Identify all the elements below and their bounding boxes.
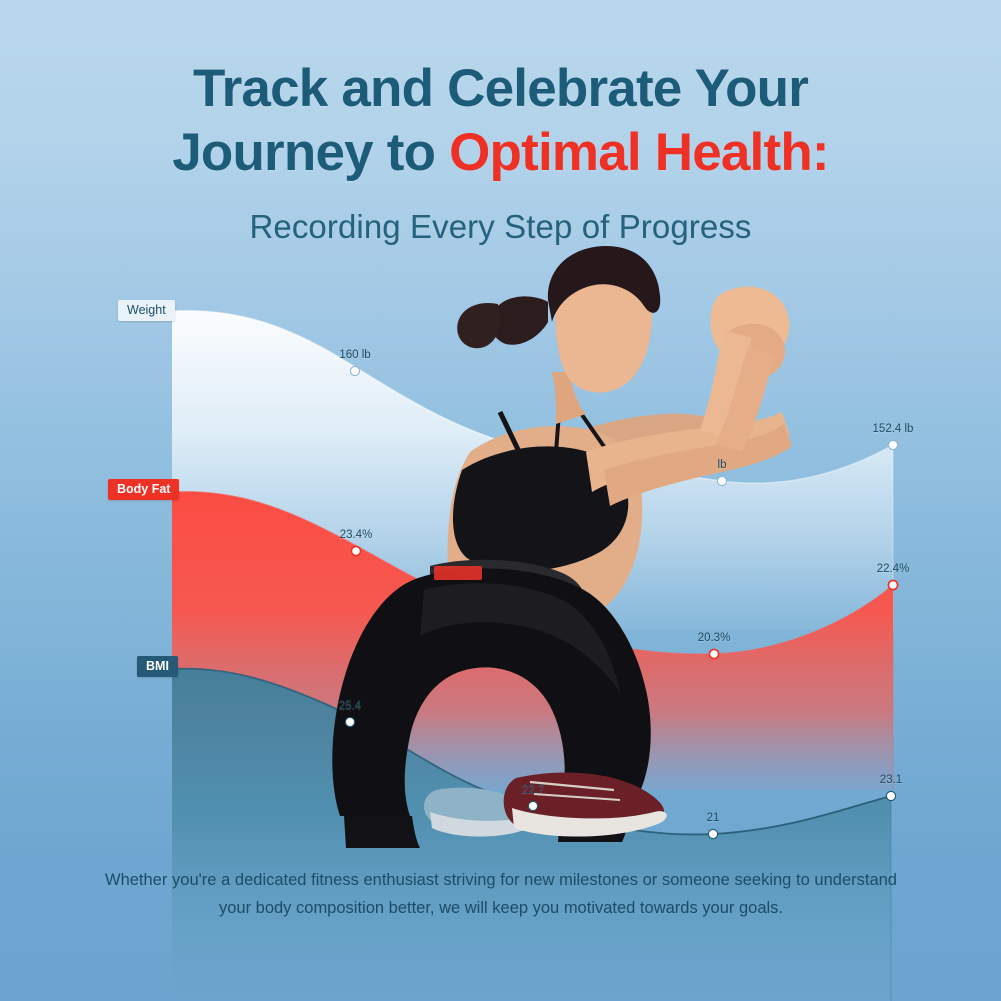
- data-point-marker[interactable]: [888, 440, 897, 449]
- data-point-marker[interactable]: [709, 649, 718, 658]
- data-point-markers: [0, 0, 1001, 1001]
- data-point-marker[interactable]: [717, 476, 726, 485]
- data-point-marker[interactable]: [528, 801, 537, 810]
- data-point-marker[interactable]: [345, 717, 354, 726]
- footer-paragraph: Whether you're a dedicated fitness enthu…: [105, 866, 897, 923]
- poster-canvas: Track and Celebrate Your Journey to Opti…: [0, 0, 1001, 1001]
- data-point-marker[interactable]: [886, 791, 895, 800]
- data-point-marker[interactable]: [888, 580, 897, 589]
- data-point-marker[interactable]: [350, 366, 359, 375]
- data-point-marker[interactable]: [351, 546, 360, 555]
- data-point-marker[interactable]: [708, 829, 717, 838]
